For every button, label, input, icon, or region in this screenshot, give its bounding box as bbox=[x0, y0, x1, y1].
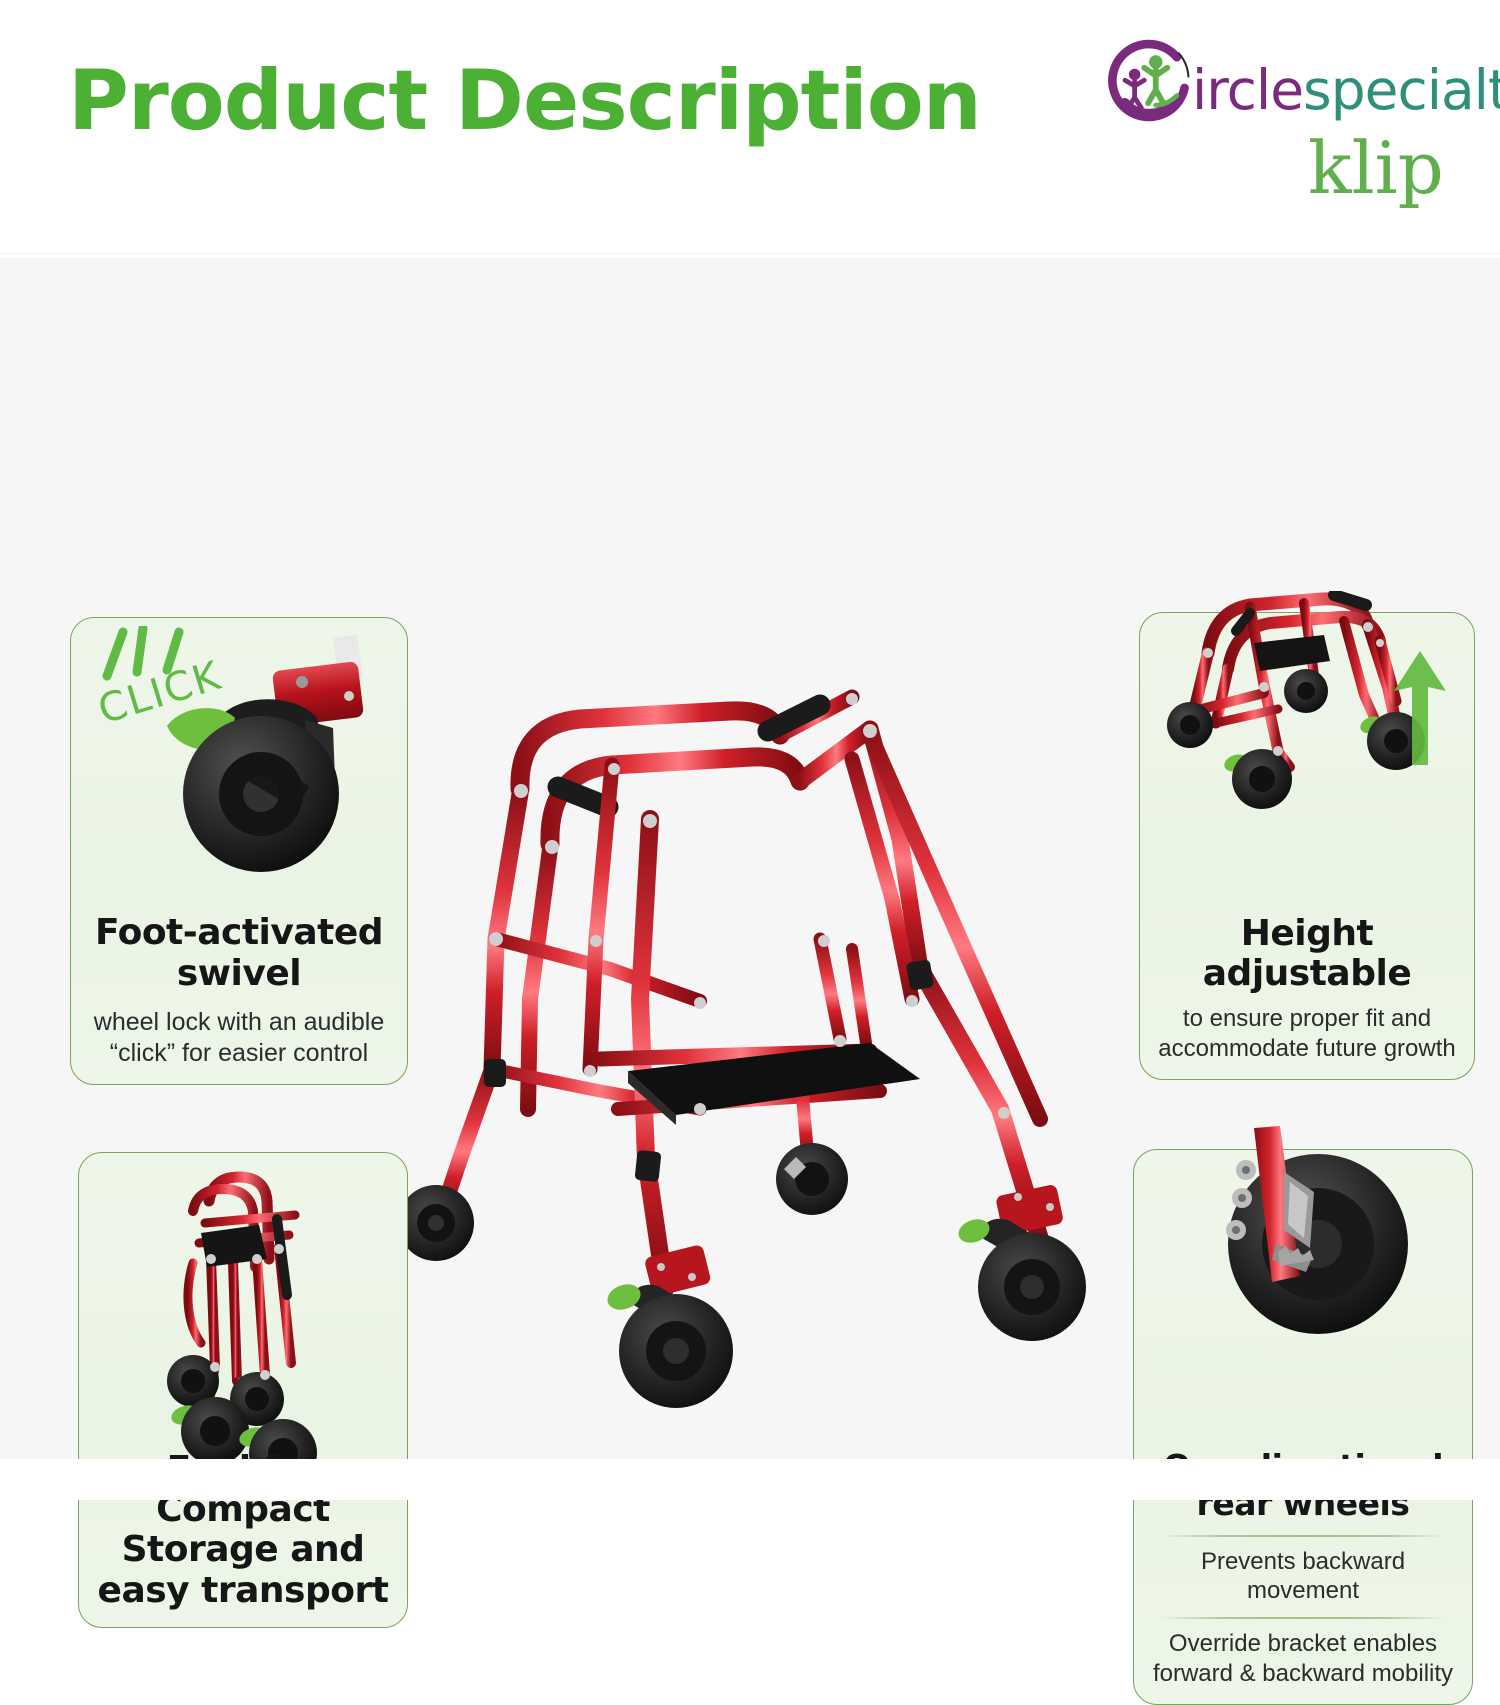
feature-card-fold-compact-storage[interactable]: Fold for Compact Storage and easy transp… bbox=[78, 1152, 408, 1628]
height-wheel-left bbox=[1167, 702, 1213, 748]
caster-wheel-with-lock-photo bbox=[157, 632, 397, 882]
section-divider-1 bbox=[1160, 1535, 1446, 1537]
mid-rear-wheel bbox=[776, 1143, 848, 1215]
feature-title-height-adjustable: Height adjustable bbox=[1154, 914, 1460, 995]
feature-description-foot-activated-swivel: wheel lock with an audible “click” for e… bbox=[85, 1007, 393, 1068]
front-caster-wheel bbox=[604, 1244, 733, 1408]
page-header: Product Description irclespecialty klip bbox=[0, 0, 1500, 255]
feature-card-text-foot-activated-swivel: Foot-activated swivel wheel lock with an… bbox=[71, 913, 407, 1084]
header-divider bbox=[0, 253, 1500, 254]
folded-walker-photo bbox=[149, 1167, 349, 1467]
feature-description-height-adjustable: to ensure proper fit and accommodate fut… bbox=[1154, 1004, 1460, 1063]
footer-strip bbox=[0, 1459, 1500, 1500]
feature-card-text-height-adjustable: Height adjustable to ensure proper fit a… bbox=[1140, 914, 1474, 1079]
height-caster-front bbox=[1222, 749, 1292, 809]
section-divider-2 bbox=[1160, 1617, 1446, 1619]
arrow-up-icon bbox=[1390, 645, 1450, 775]
right-caster-wheel bbox=[955, 1184, 1086, 1341]
feature-title-foot-activated-swivel: Foot-activated swivel bbox=[85, 913, 393, 994]
infographic-page: Product Description irclespecialty klip bbox=[0, 0, 1500, 1500]
feature-card-height-adjustable[interactable]: Height adjustable to ensure proper fit a… bbox=[1139, 612, 1475, 1080]
brand-wordmark: irclespecialty bbox=[1192, 58, 1500, 122]
rear-wheel-ratchet-bracket-photo bbox=[1180, 1126, 1430, 1376]
feature-card-one-directional-rear-wheels[interactable]: One-directional rear wheels Prevents bac… bbox=[1133, 1149, 1473, 1705]
content-stage: CLICK bbox=[0, 259, 1500, 1459]
page-title: Product Description bbox=[68, 52, 981, 149]
feature-card-foot-activated-swivel[interactable]: CLICK bbox=[70, 617, 408, 1085]
brand-product-line: klip bbox=[1308, 126, 1444, 210]
circle-people-logo-icon bbox=[1102, 38, 1198, 134]
height-wheel-mid bbox=[1284, 669, 1328, 713]
brand-word-specialty: specialty bbox=[1303, 58, 1500, 122]
brand-logo: irclespecialty klip bbox=[1080, 28, 1470, 218]
feature-description2-one-directional-rear-wheels: Override bracket enables forward & backw… bbox=[1148, 1629, 1458, 1688]
brand-word-ircle: ircle bbox=[1192, 58, 1303, 122]
hero-product-image bbox=[400, 639, 1120, 1509]
left-small-wheel bbox=[400, 1185, 474, 1261]
feature-description-one-directional-rear-wheels: Prevents backward movement bbox=[1148, 1547, 1458, 1606]
